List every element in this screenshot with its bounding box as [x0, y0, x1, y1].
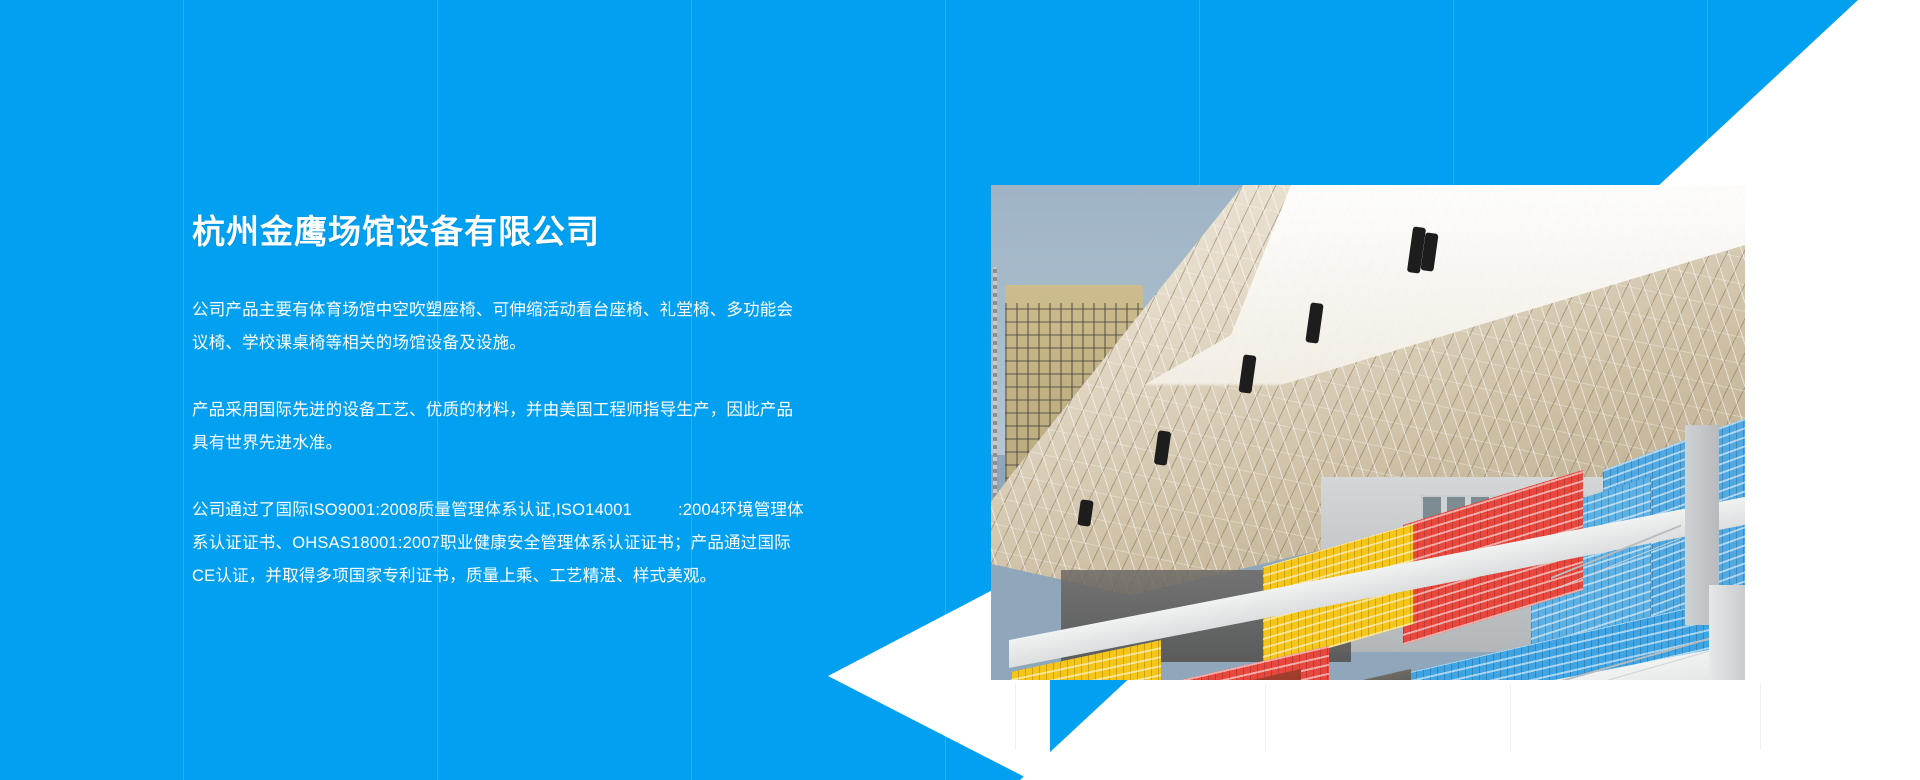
- photo-support-column: [1709, 585, 1745, 680]
- page-title: 杭州金鹰场馆设备有限公司: [192, 212, 812, 252]
- company-products-paragraph: 公司产品主要有体育场馆中空吹塑座椅、可伸缩活动看台座椅、礼堂椅、多功能会议椅、学…: [192, 294, 807, 360]
- photo-construction-crane: [993, 267, 997, 497]
- banner-stage: 杭州金鹰场馆设备有限公司 公司产品主要有体育场馆中空吹塑座椅、可伸缩活动看台座椅…: [0, 0, 1920, 780]
- stadium-photo-canvas: [991, 185, 1745, 680]
- company-certification-paragraph: 公司通过了国际ISO9001:2008质量管理体系认证,ISO14001:200…: [192, 494, 807, 593]
- company-quality-paragraph: 产品采用国际先进的设备工艺、优质的材料，并由美国工程师指导生产，因此产品具有世界…: [192, 394, 807, 460]
- certification-text-part-1: 公司通过了国际ISO9001:2008质量管理体系认证,ISO14001: [192, 501, 632, 519]
- company-copy-block: 杭州金鹰场馆设备有限公司 公司产品主要有体育场馆中空吹塑座椅、可伸缩活动看台座椅…: [192, 212, 812, 593]
- stadium-photo: [991, 185, 1745, 680]
